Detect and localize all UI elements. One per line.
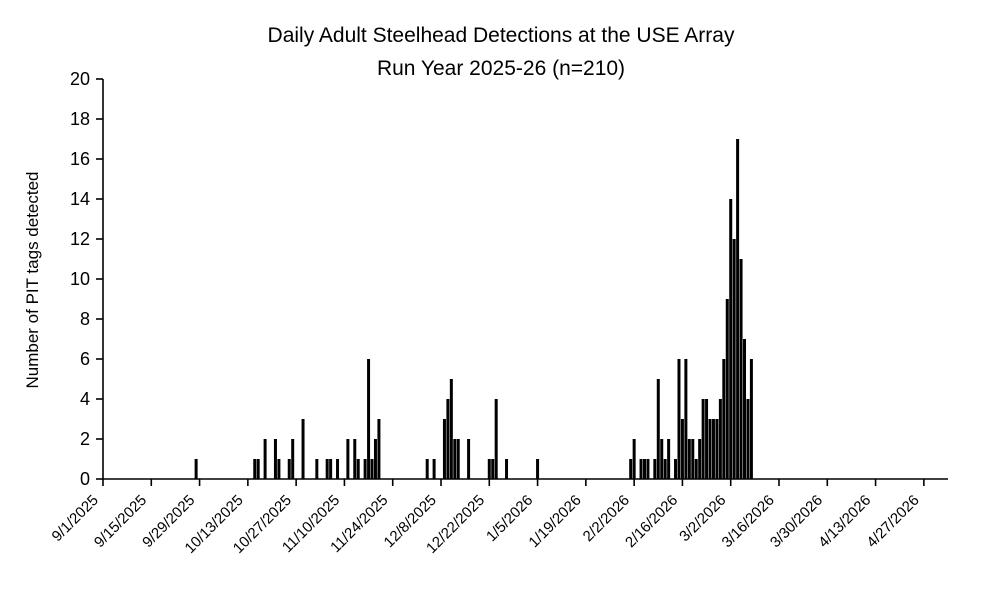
x-tick-label: 1/19/2026 xyxy=(525,492,584,551)
y-tick-label: 18 xyxy=(70,109,90,129)
x-tick-label: 4/27/2026 xyxy=(863,492,922,551)
chart-title-line-1: Daily Adult Steelhead Detections at the … xyxy=(268,24,735,47)
chart-container: Daily Adult Steelhead Detections at the … xyxy=(0,0,1002,609)
y-tick-label: 12 xyxy=(70,229,90,249)
y-axis-label: Number of PIT tags detected xyxy=(23,171,42,388)
detections-bar-chart: Daily Adult Steelhead Detections at the … xyxy=(0,0,1002,609)
x-tick-label: 2/16/2026 xyxy=(622,492,681,551)
chart-title-line-2: Run Year 2025-26 (n=210) xyxy=(377,57,625,80)
y-tick-label: 10 xyxy=(70,269,90,289)
y-tick-label: 20 xyxy=(70,69,90,89)
bar-series xyxy=(196,139,751,479)
y-tick-label: 4 xyxy=(80,389,90,409)
y-tick-label: 6 xyxy=(80,349,90,369)
y-tick-label: 2 xyxy=(80,429,90,449)
x-axis-ticks: 9/1/20259/15/20259/29/202510/13/202510/2… xyxy=(49,479,924,557)
y-tick-label: 14 xyxy=(70,189,90,209)
y-axis-ticks: 02468101214161820 xyxy=(70,69,103,489)
y-tick-label: 8 xyxy=(80,309,90,329)
y-tick-label: 0 xyxy=(80,469,90,489)
y-tick-label: 16 xyxy=(70,149,90,169)
